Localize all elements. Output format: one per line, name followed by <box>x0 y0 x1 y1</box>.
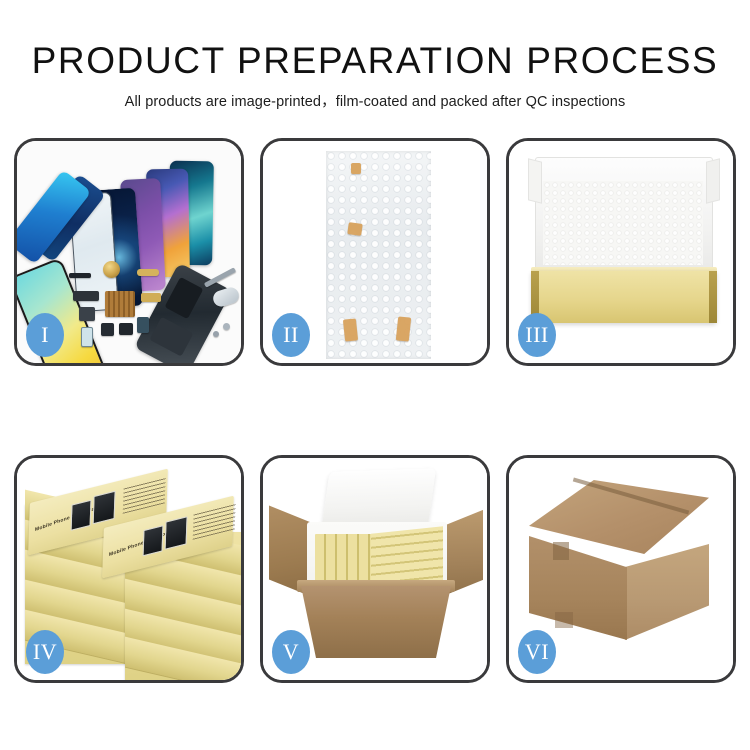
bubble-wrap-bag-icon <box>326 151 431 359</box>
step-card-2: II <box>260 138 490 366</box>
tape-piece-1-icon <box>351 163 361 174</box>
step-badge-4: IV <box>26 630 64 674</box>
step-badge-3: III <box>518 313 556 357</box>
page-subtitle: All products are image-printed，film-coat… <box>0 91 750 113</box>
tape-piece-2-icon <box>347 222 363 236</box>
box-phone-image-2 <box>93 491 116 525</box>
component-3-icon <box>101 323 114 336</box>
box-front-panel-icon <box>531 271 717 323</box>
box-phone-image-1 <box>71 500 92 531</box>
step-badge-2: II <box>272 313 310 357</box>
step-card-4: Mobile Phone Spare Parts Mobile Phone Sp… <box>14 455 244 683</box>
screw-2-icon <box>213 331 219 337</box>
header: PRODUCT PREPARATION PROCESS All products… <box>0 38 750 113</box>
circuit-board-icon <box>105 291 135 317</box>
component-4-icon <box>119 323 133 335</box>
step-card-6: VI <box>506 455 736 683</box>
product-preparation-process-page: PRODUCT PREPARATION PROCESS All products… <box>0 0 750 750</box>
carton-tab-1-icon <box>553 542 569 560</box>
flex-cable-2-icon <box>141 293 161 302</box>
step-badge-1: I <box>26 313 64 357</box>
tape-piece-4-icon <box>396 316 411 341</box>
carton-tab-2-icon <box>555 612 573 628</box>
carton-side-face-icon <box>625 544 709 640</box>
carton-body-icon <box>301 586 451 658</box>
carton-front-face-icon <box>529 536 627 640</box>
step-badge-5: V <box>272 630 310 674</box>
battery-strip-icon <box>69 273 91 278</box>
process-steps-grid: I II <box>14 138 736 683</box>
component-2-icon <box>79 307 95 321</box>
step-badge-6: VI <box>518 630 556 674</box>
component-5-icon <box>137 317 149 333</box>
page-title: PRODUCT PREPARATION PROCESS <box>0 38 750 84</box>
component-1-icon <box>73 291 99 301</box>
box-spec-lines-2 <box>193 503 236 540</box>
box-phone-image-4 <box>165 516 188 550</box>
screw-1-icon <box>223 323 230 330</box>
sim-tray-icon <box>81 327 93 347</box>
step-card-3: III <box>506 138 736 366</box>
box-spec-lines-1 <box>123 477 166 514</box>
box-phone-image-3 <box>143 525 164 556</box>
box-label-text-1: Mobile Phone Spare Parts <box>35 504 102 533</box>
tape-piece-3-icon <box>343 318 358 341</box>
speaker-part-icon <box>103 261 120 278</box>
step-card-5: V <box>260 455 490 683</box>
foam-sheet-icon <box>543 181 703 265</box>
flex-cable-icon <box>137 269 159 276</box>
step-card-1: I <box>14 138 244 366</box>
